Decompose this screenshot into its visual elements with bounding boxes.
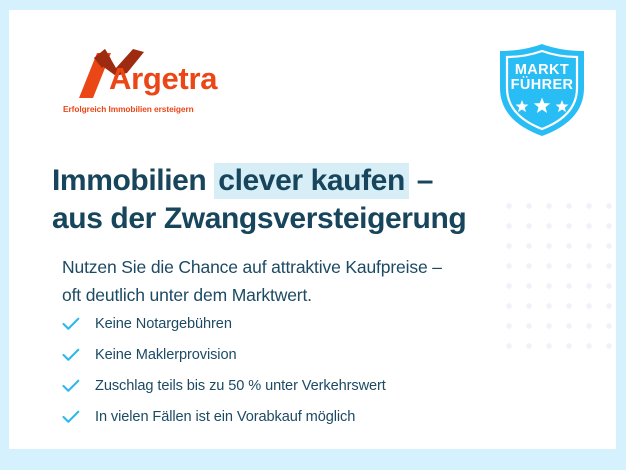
subheadline-line-1: Nutzen Sie die Chance auf attraktive Kau… xyxy=(62,253,532,281)
list-item: Keine Maklerprovision xyxy=(62,339,532,370)
market-leader-badge[interactable]: MARKT FÜHRER xyxy=(496,42,588,138)
list-item: In vielen Fällen ist ein Vorabkauf mögli… xyxy=(62,401,532,432)
list-item-label: Keine Maklerprovision xyxy=(86,347,236,363)
headline-highlight: clever kaufen xyxy=(214,163,409,199)
list-item: Zuschlag teils bis zu 50 % unter Verkehr… xyxy=(62,370,532,401)
shield-icon xyxy=(496,42,588,138)
headline-text-post: – xyxy=(409,164,433,197)
check-icon xyxy=(62,408,86,426)
list-item: Keine Notargebühren xyxy=(62,308,532,339)
logo-wordmark: Argetra xyxy=(109,63,217,94)
headline-line-2: aus der Zwangsversteigerung xyxy=(52,200,532,238)
subheadline: Nutzen Sie die Chance auf attraktive Kau… xyxy=(62,253,532,310)
list-item-label: Keine Notargebühren xyxy=(86,316,232,332)
check-icon xyxy=(62,377,86,395)
ad-banner[interactable]: Argetra Erfolgreich Immobilien ersteiger… xyxy=(0,0,626,470)
list-item-label: In vielen Fällen ist ein Vorabkauf mögli… xyxy=(86,409,355,425)
benefits-list: Keine Notargebühren Keine Maklerprovisio… xyxy=(62,308,532,432)
headline-line-1: Immobilien clever kaufen – xyxy=(52,162,532,200)
subheadline-line-2: oft deutlich unter dem Marktwert. xyxy=(62,281,532,309)
list-item-label: Zuschlag teils bis zu 50 % unter Verkehr… xyxy=(86,378,386,394)
check-icon xyxy=(62,346,86,364)
check-icon xyxy=(62,315,86,333)
headline: Immobilien clever kaufen – aus der Zwang… xyxy=(52,162,532,237)
logo-tagline: Erfolgreich Immobilien ersteigern xyxy=(63,104,194,114)
banner-canvas: Argetra Erfolgreich Immobilien ersteiger… xyxy=(9,10,616,449)
argetra-logo[interactable]: Argetra Erfolgreich Immobilien ersteiger… xyxy=(61,46,221,116)
headline-text-pre: Immobilien xyxy=(52,164,214,197)
